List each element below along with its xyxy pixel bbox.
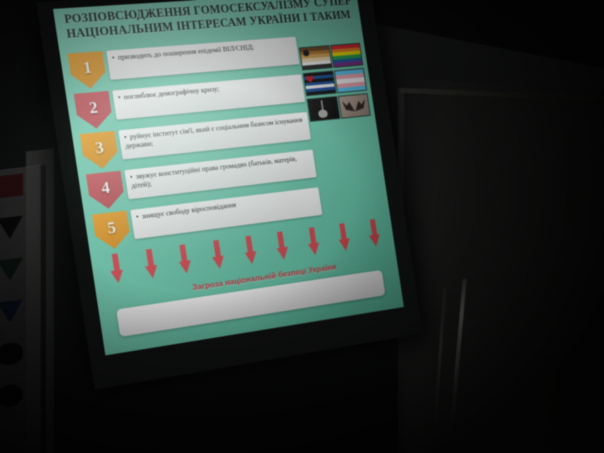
down-arrow-icon	[367, 219, 382, 248]
chevron-label: 1	[82, 58, 93, 78]
rainbow-pride-flag-icon	[330, 43, 363, 68]
item-text-box: •призводить до поширення епідемії ВІЛ/СН…	[106, 37, 299, 80]
photo-scene: РОЗПОВСЮДЖЕННЯ ГОМОСЕКСУАЛІЗМУ СУПЕРЕЧИТ…	[0, 0, 604, 453]
projection-screen: РОЗПОВСЮДЖЕННЯ ГОМОСЕКСУАЛІЗМУ СУПЕРЕЧИТ…	[36, 0, 423, 390]
dark-photo-guitar	[307, 96, 341, 122]
leather-pride-flag-icon	[303, 71, 337, 97]
down-arrow-icon	[142, 248, 159, 279]
item-text: призводить до поширення епідемії ВІЛ/СНІ…	[117, 43, 254, 62]
down-arrow-icon	[210, 240, 226, 270]
slide-title: РОЗПОВСЮДЖЕННЯ ГОМОСЕКСУАЛІЗМУ СУПЕРЕЧИТ…	[63, 0, 354, 42]
down-arrow-icon	[306, 227, 321, 256]
bear-pride-flag-icon	[299, 45, 333, 70]
chevron-label: 5	[106, 218, 117, 239]
chevron-label: 4	[100, 178, 111, 198]
bat-shape-photo	[338, 93, 371, 119]
chevron-number-3: 3	[80, 131, 120, 171]
chevron-label: 2	[88, 98, 99, 118]
chevron-number-4: 4	[86, 171, 126, 211]
flag-image-grid	[299, 43, 370, 122]
dark-door	[398, 78, 604, 453]
chevron-number-2: 2	[74, 91, 114, 130]
transgender-pride-flag-icon	[334, 68, 367, 93]
down-arrow-icon	[176, 244, 192, 274]
down-arrow-icon	[242, 235, 258, 265]
down-arrow-icon	[108, 253, 125, 284]
down-arrow-icon	[336, 223, 351, 252]
down-arrow-icon	[274, 231, 290, 260]
presentation-slide: РОЗПОВСЮДЖЕННЯ ГОМОСЕКСУАЛІЗМУ СУПЕРЕЧИТ…	[53, 0, 404, 355]
chevron-number-1: 1	[68, 51, 108, 90]
numbered-items-list: 1 •призводить до поширення епідемії ВІЛ/…	[68, 37, 324, 255]
item-text: поглиблює демографічну кризу;	[123, 84, 220, 101]
chevron-number-5: 5	[92, 211, 132, 252]
wall-shadow	[0, 165, 46, 453]
chevron-label: 3	[94, 138, 105, 158]
